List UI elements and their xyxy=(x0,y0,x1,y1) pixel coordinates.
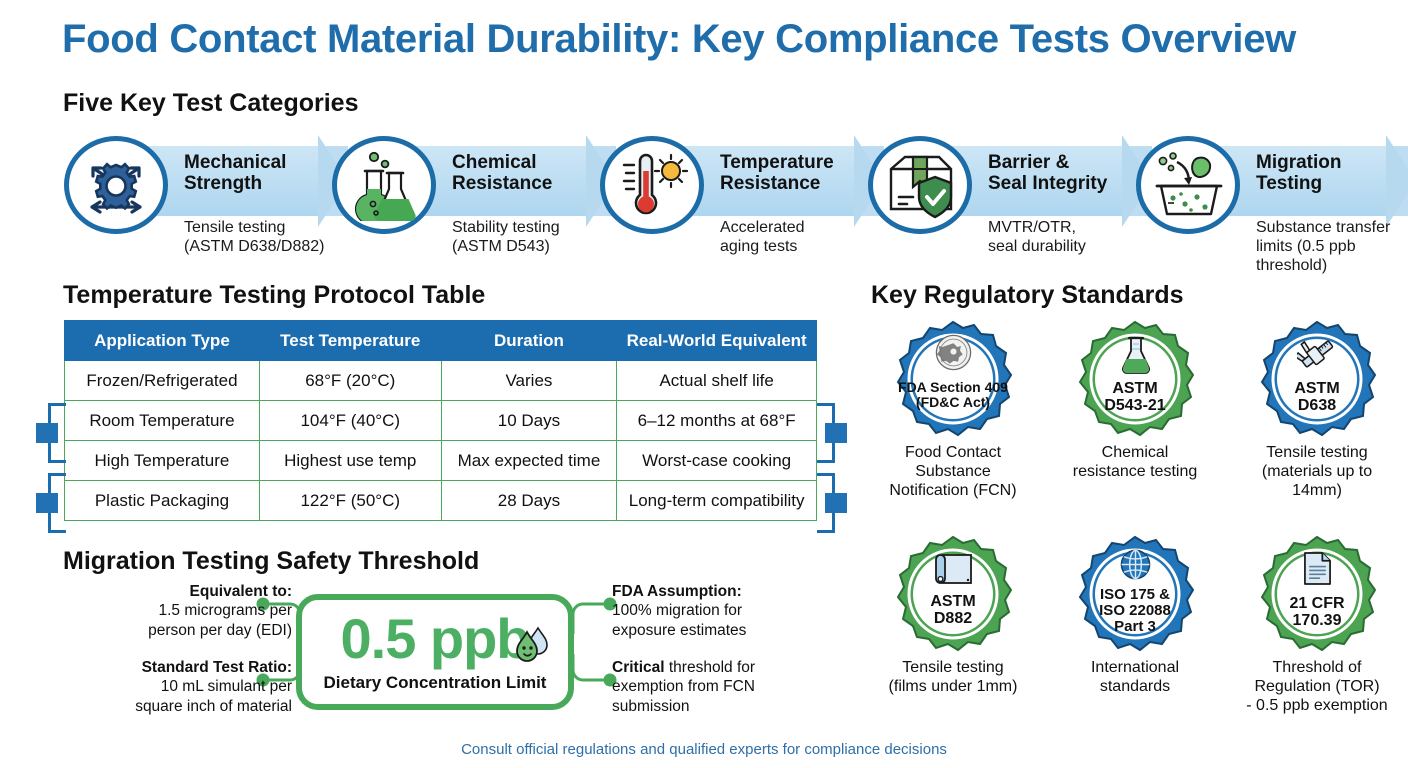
badge-caption: Chemical resistance testing xyxy=(1044,444,1226,482)
note-bold: Critical xyxy=(612,659,665,676)
cell: Long-term compatibility xyxy=(617,481,817,521)
standard-21-cfr-170-39[interactable]: 21 CFR 170.39 Threshold of Regulation (T… xyxy=(1226,535,1408,716)
cell: Max expected time xyxy=(441,441,617,481)
step-title: Chemical Resistance xyxy=(452,152,552,195)
document-icon xyxy=(1303,551,1332,586)
step-barrier-seal-integrity[interactable]: Barrier & Seal Integrity MVTR/OTR, seal … xyxy=(868,130,1138,265)
note-line: square inch of material xyxy=(62,697,292,716)
badge-medallion: ASTM D638 xyxy=(1258,320,1376,438)
note-line: 10 mL simulant per xyxy=(62,677,292,696)
section-heading-migration: Migration Testing Safety Threshold xyxy=(63,547,479,576)
page-title: Food Contact Material Durability: Key Co… xyxy=(62,18,1362,60)
cell: Worst-case cooking xyxy=(617,441,817,481)
step-subtitle: Tensile testing (ASTM D638/D882) xyxy=(184,218,325,256)
cell: Frozen/Refrigerated xyxy=(65,361,260,401)
table-bracket-left-1 xyxy=(32,403,66,463)
step-title: Migration Testing xyxy=(1256,152,1342,195)
section-heading-standards: Key Regulatory Standards xyxy=(871,281,1184,310)
standard-astm-d882[interactable]: ASTM D882 Tensile testing (films under 1… xyxy=(862,535,1044,697)
note-bold: Equivalent to: xyxy=(190,583,292,600)
footer-disclaimer: Consult official regulations and qualifi… xyxy=(0,741,1408,758)
infographic-root: Food Contact Material Durability: Key Co… xyxy=(0,0,1408,768)
table-row: Frozen/Refrigerated 68°F (20°C) Varies A… xyxy=(65,361,817,401)
badge-caption: International standards xyxy=(1044,659,1226,697)
step-subtitle: MVTR/OTR, seal durability xyxy=(988,218,1086,256)
test-categories-row: Mechanical Strength Tensile testing (AST… xyxy=(0,130,1408,265)
note-line: exemption from FCN xyxy=(612,677,842,696)
note-line: submission xyxy=(612,697,842,716)
globe-icon xyxy=(1120,549,1151,580)
box-shield-icon xyxy=(868,136,972,234)
flasks-icon xyxy=(332,136,436,234)
migration-note-fda-assumption: FDA Assumption: 100% migration for expos… xyxy=(612,582,842,640)
badge-text: ASTM D543-21 xyxy=(1076,380,1194,415)
badge-text: 21 CFR 170.39 xyxy=(1258,595,1376,630)
note-bold: FDA Assumption: xyxy=(612,583,742,600)
cell: 28 Days xyxy=(441,481,617,521)
note-line: 100% migration for xyxy=(612,601,842,620)
note-line: person per day (EDI) xyxy=(62,621,292,640)
cell: High Temperature xyxy=(65,441,260,481)
badge-text: ASTM D638 xyxy=(1258,380,1376,415)
step-subtitle: Stability testing (ASTM D543) xyxy=(452,218,560,256)
cell: 68°F (20°C) xyxy=(259,361,441,401)
badge-caption: Food Contact Substance Notification (FCN… xyxy=(862,444,1044,501)
ppb-value: 0.5 ppb xyxy=(340,611,529,667)
cell: 10 Days xyxy=(441,401,617,441)
migration-threshold-panel: 0.5 ppb Dietary Concentration Limit Equi… xyxy=(64,578,854,728)
badge-medallion: FDA Section 409 (FD&C Act) xyxy=(894,320,1012,438)
ppb-label: Dietary Concentration Limit xyxy=(324,673,547,693)
note-line: exposure estimates xyxy=(612,621,842,640)
badge-text: FDA Section 409 (FD&C Act) xyxy=(894,380,1012,410)
col-test-temperature: Test Temperature xyxy=(259,321,441,361)
cell: Highest use temp xyxy=(259,441,441,481)
flask-icon xyxy=(1120,336,1152,374)
standard-astm-d638[interactable]: ASTM D638 Tensile testing (materials up … xyxy=(1226,320,1408,501)
step-title: Mechanical Strength xyxy=(184,152,286,195)
caliper-icon xyxy=(1297,334,1338,374)
col-application-type: Application Type xyxy=(65,321,260,361)
migration-note-equivalent: Equivalent to: 1.5 micrograms per person… xyxy=(62,582,292,640)
note-line: 1.5 micrograms per xyxy=(62,601,292,620)
table-bracket-right-2 xyxy=(817,473,851,533)
badge-caption: Tensile testing (films under 1mm) xyxy=(862,659,1044,697)
table-header-row: Application Type Test Temperature Durati… xyxy=(65,321,817,361)
table-bracket-left-2 xyxy=(32,473,66,533)
col-duration: Duration xyxy=(441,321,617,361)
migration-note-test-ratio: Standard Test Ratio: 10 mL simulant per … xyxy=(62,658,292,716)
migration-note-critical: Critical threshold for exemption from FC… xyxy=(612,658,842,716)
water-drop-icon xyxy=(514,626,550,666)
step-title: Temperature Resistance xyxy=(720,152,834,195)
note-trail: threshold for xyxy=(665,659,755,676)
standard-astm-d543-21[interactable]: ASTM D543-21 Chemical resistance testing xyxy=(1044,320,1226,482)
cell: Room Temperature xyxy=(65,401,260,441)
step-subtitle: Accelerated aging tests xyxy=(720,218,805,256)
fda-seal-icon xyxy=(935,334,972,371)
step-title: Barrier & Seal Integrity xyxy=(988,152,1107,195)
section-heading-categories: Five Key Test Categories xyxy=(63,89,358,118)
migration-tray-icon xyxy=(1136,136,1240,234)
cell: Varies xyxy=(441,361,617,401)
col-real-world-equivalent: Real-World Equivalent xyxy=(617,321,817,361)
badge-caption: Tensile testing (materials up to 14mm) xyxy=(1226,444,1408,501)
section-heading-protocol-table: Temperature Testing Protocol Table xyxy=(63,281,485,310)
badge-medallion: ASTM D543-21 xyxy=(1076,320,1194,438)
table-bracket-right-1 xyxy=(817,403,851,463)
standard-iso-175-22088[interactable]: ISO 175 & ISO 22088 Part 3 International… xyxy=(1044,535,1226,697)
note-bold: Standard Test Ratio: xyxy=(142,659,292,676)
gear-arrows-icon xyxy=(64,136,168,234)
table-row: Plastic Packaging 122°F (50°C) 28 Days L… xyxy=(65,481,817,521)
temperature-protocol-table: Application Type Test Temperature Durati… xyxy=(64,320,817,521)
step-migration-testing[interactable]: Migration Testing Substance transfer lim… xyxy=(1136,130,1408,265)
badge-caption: Threshold of Regulation (TOR) - 0.5 ppb … xyxy=(1226,659,1408,716)
cell: 6–12 months at 68°F xyxy=(617,401,817,441)
regulatory-standards-grid: FDA Section 409 (FD&C Act) Food Contact … xyxy=(862,320,1408,740)
badge-medallion: ISO 175 & ISO 22088 Part 3 xyxy=(1076,535,1194,653)
thermometer-sun-icon xyxy=(600,136,704,234)
badge-medallion: 21 CFR 170.39 xyxy=(1258,535,1376,653)
cell: Plastic Packaging xyxy=(65,481,260,521)
cell: Actual shelf life xyxy=(617,361,817,401)
table-row: Room Temperature 104°F (40°C) 10 Days 6–… xyxy=(65,401,817,441)
badge-text: ASTM D882 xyxy=(894,593,1012,628)
cell: 104°F (40°C) xyxy=(259,401,441,441)
badge-medallion: ASTM D882 xyxy=(894,535,1012,653)
cell: 122°F (50°C) xyxy=(259,481,441,521)
step-temperature-resistance[interactable]: Temperature Resistance Accelerated aging… xyxy=(600,130,870,265)
badge-text: ISO 175 & ISO 22088 Part 3 xyxy=(1076,587,1194,636)
step-chemical-resistance[interactable]: Chemical Resistance Stability testing (A… xyxy=(332,130,602,265)
ppb-threshold-box: 0.5 ppb Dietary Concentration Limit xyxy=(296,594,574,710)
film-roll-icon xyxy=(934,553,974,587)
table-row: High Temperature Highest use temp Max ex… xyxy=(65,441,817,481)
step-subtitle: Substance transfer limits (0.5 ppb thres… xyxy=(1256,218,1408,276)
standard-fda-section-409[interactable]: FDA Section 409 (FD&C Act) Food Contact … xyxy=(862,320,1044,501)
step-mechanical-strength[interactable]: Mechanical Strength Tensile testing (AST… xyxy=(64,130,334,265)
